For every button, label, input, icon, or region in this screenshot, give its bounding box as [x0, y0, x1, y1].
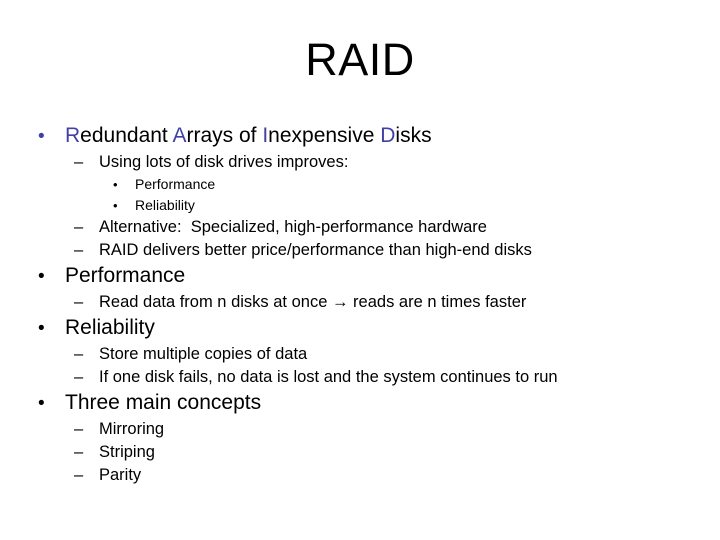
bullet-marker-icon: – — [74, 343, 99, 366]
bullet-marker-icon: • — [38, 315, 65, 342]
bullet-text: Performance — [65, 262, 720, 289]
bullet-if-one-disk-fails: –If one disk fails, no data is lost and … — [0, 366, 720, 389]
bullet-marker-icon: – — [74, 216, 99, 239]
bullet-text: Mirroring — [99, 418, 720, 441]
bullet-text: RAID delivers better price/performance t… — [99, 239, 720, 262]
bullet-text-segment: rrays of — [186, 124, 262, 147]
bullet-redundant-arrays: •Redundant Arrays of Inexpensive Disks — [0, 122, 720, 150]
bullet-striping: –Striping — [0, 441, 720, 464]
bullet-marker-icon: • — [38, 123, 65, 150]
bullet-text-segment: nexpensive — [268, 124, 380, 147]
bullet-reliability-sub: •Reliability — [0, 195, 720, 216]
bullet-text: Alternative: Specialized, high-performan… — [99, 216, 720, 239]
bullet-text-segment: edundant — [80, 124, 172, 147]
bullet-using-lots-of-disk-drives: –Using lots of disk drives improves: — [0, 151, 720, 174]
bullet-text: Three main concepts — [65, 389, 720, 416]
bullet-text: Performance — [135, 174, 720, 195]
slide-canvas: RAID •Redundant Arrays of Inexpensive Di… — [0, 0, 720, 540]
bullet-performance: •Performance — [0, 262, 720, 290]
bullet-marker-icon: – — [74, 366, 99, 389]
bullet-marker-icon: – — [74, 151, 99, 174]
acronym-initial: D — [380, 124, 395, 147]
bullet-marker-icon: • — [38, 390, 65, 417]
bullet-marker-icon: – — [74, 239, 99, 262]
bullet-alternative: –Alternative: Specialized, high-performa… — [0, 216, 720, 239]
bullet-text: Parity — [99, 464, 720, 487]
bullet-store-multiple-copies: –Store multiple copies of data — [0, 343, 720, 366]
bullet-raid-delivers: –RAID delivers better price/performance … — [0, 239, 720, 262]
bullet-mirroring: –Mirroring — [0, 418, 720, 441]
page-title: RAID — [0, 34, 720, 86]
bullet-marker-icon: • — [38, 263, 65, 290]
bullet-marker-icon: – — [74, 291, 99, 314]
acronym-initial: R — [65, 124, 80, 147]
bullet-text: Striping — [99, 441, 720, 464]
bullet-marker-icon: – — [74, 418, 99, 441]
bullet-text: If one disk fails, no data is lost and t… — [99, 366, 720, 389]
bullet-reliability: •Reliability — [0, 314, 720, 342]
bullet-marker-icon: • — [113, 174, 135, 195]
bullet-text: Read data from n disks at once → reads a… — [99, 291, 720, 314]
bullet-marker-icon: – — [74, 441, 99, 464]
bullet-text: Store multiple copies of data — [99, 343, 720, 366]
acronym-initial: A — [172, 124, 186, 147]
bullet-read-data: –Read data from n disks at once → reads … — [0, 291, 720, 314]
bullet-text: Using lots of disk drives improves: — [99, 151, 720, 174]
bullet-text: Reliability — [135, 195, 720, 216]
bullet-performance-sub: •Performance — [0, 174, 720, 195]
slide-body-outline: •Redundant Arrays of Inexpensive Disks–U… — [0, 122, 720, 487]
bullet-text: Redundant Arrays of Inexpensive Disks — [65, 122, 720, 149]
bullet-parity: –Parity — [0, 464, 720, 487]
bullet-marker-icon: – — [74, 464, 99, 487]
bullet-marker-icon: • — [113, 195, 135, 216]
bullet-text-segment: isks — [395, 124, 431, 147]
bullet-three-main-concepts: •Three main concepts — [0, 389, 720, 417]
bullet-text: Reliability — [65, 314, 720, 341]
